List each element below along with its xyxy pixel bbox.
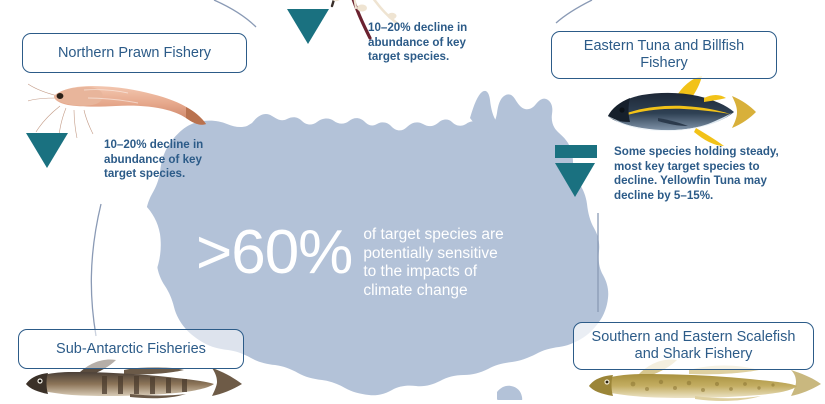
lobster-segments: [332, 0, 397, 19]
triangle-down-icon: [26, 133, 68, 168]
tuna-eye: [619, 107, 624, 112]
icefish-tail: [212, 368, 242, 396]
fishery-label-eastern-tuna-billfish[interactable]: Eastern Tuna and Billfish Fishery: [551, 31, 777, 79]
tuna-dorsal-fin-2: [704, 95, 726, 102]
prawn-eye: [57, 93, 64, 99]
flathead-tail: [791, 370, 821, 396]
note-northern-prawn: 10–20% decline in abundance of key targe…: [104, 138, 224, 182]
tuna-head: [608, 98, 630, 122]
fishery-label-southern-eastern-scalefish-shark[interactable]: Southern and Eastern Scalefish and Shark…: [573, 322, 814, 370]
tasmania-path: [497, 386, 522, 400]
flathead-pupil: [606, 381, 609, 384]
tuna-tail: [732, 96, 756, 128]
fishery-label-sub-antarctic[interactable]: Sub-Antarctic Fisheries: [18, 329, 244, 369]
icefish-pupil: [39, 380, 42, 383]
lobster-antenna-1: [344, 0, 370, 38]
note-eastern-tuna: Some species holding steady, most key ta…: [614, 145, 804, 203]
tuna-anal-fin-long: [694, 128, 724, 146]
fishery-label-northern-prawn[interactable]: Northern Prawn Fishery: [22, 33, 247, 73]
flat-bar-icon: [555, 145, 597, 158]
triangle-down-icon: [287, 9, 329, 44]
icefish-head: [26, 373, 48, 394]
note-rock-lobster: 10–20% decline in abundance of key targe…: [368, 21, 480, 65]
flathead-body: [589, 374, 797, 398]
prawn-illustration: [28, 72, 210, 140]
prawn-tail: [186, 107, 206, 125]
triangle-down-icon: [555, 163, 595, 197]
flathead-head: [589, 375, 613, 396]
infographic-canvas: >60% of target species are potentially s…: [0, 0, 825, 400]
yellowfin-tuna-illustration: [600, 76, 756, 148]
